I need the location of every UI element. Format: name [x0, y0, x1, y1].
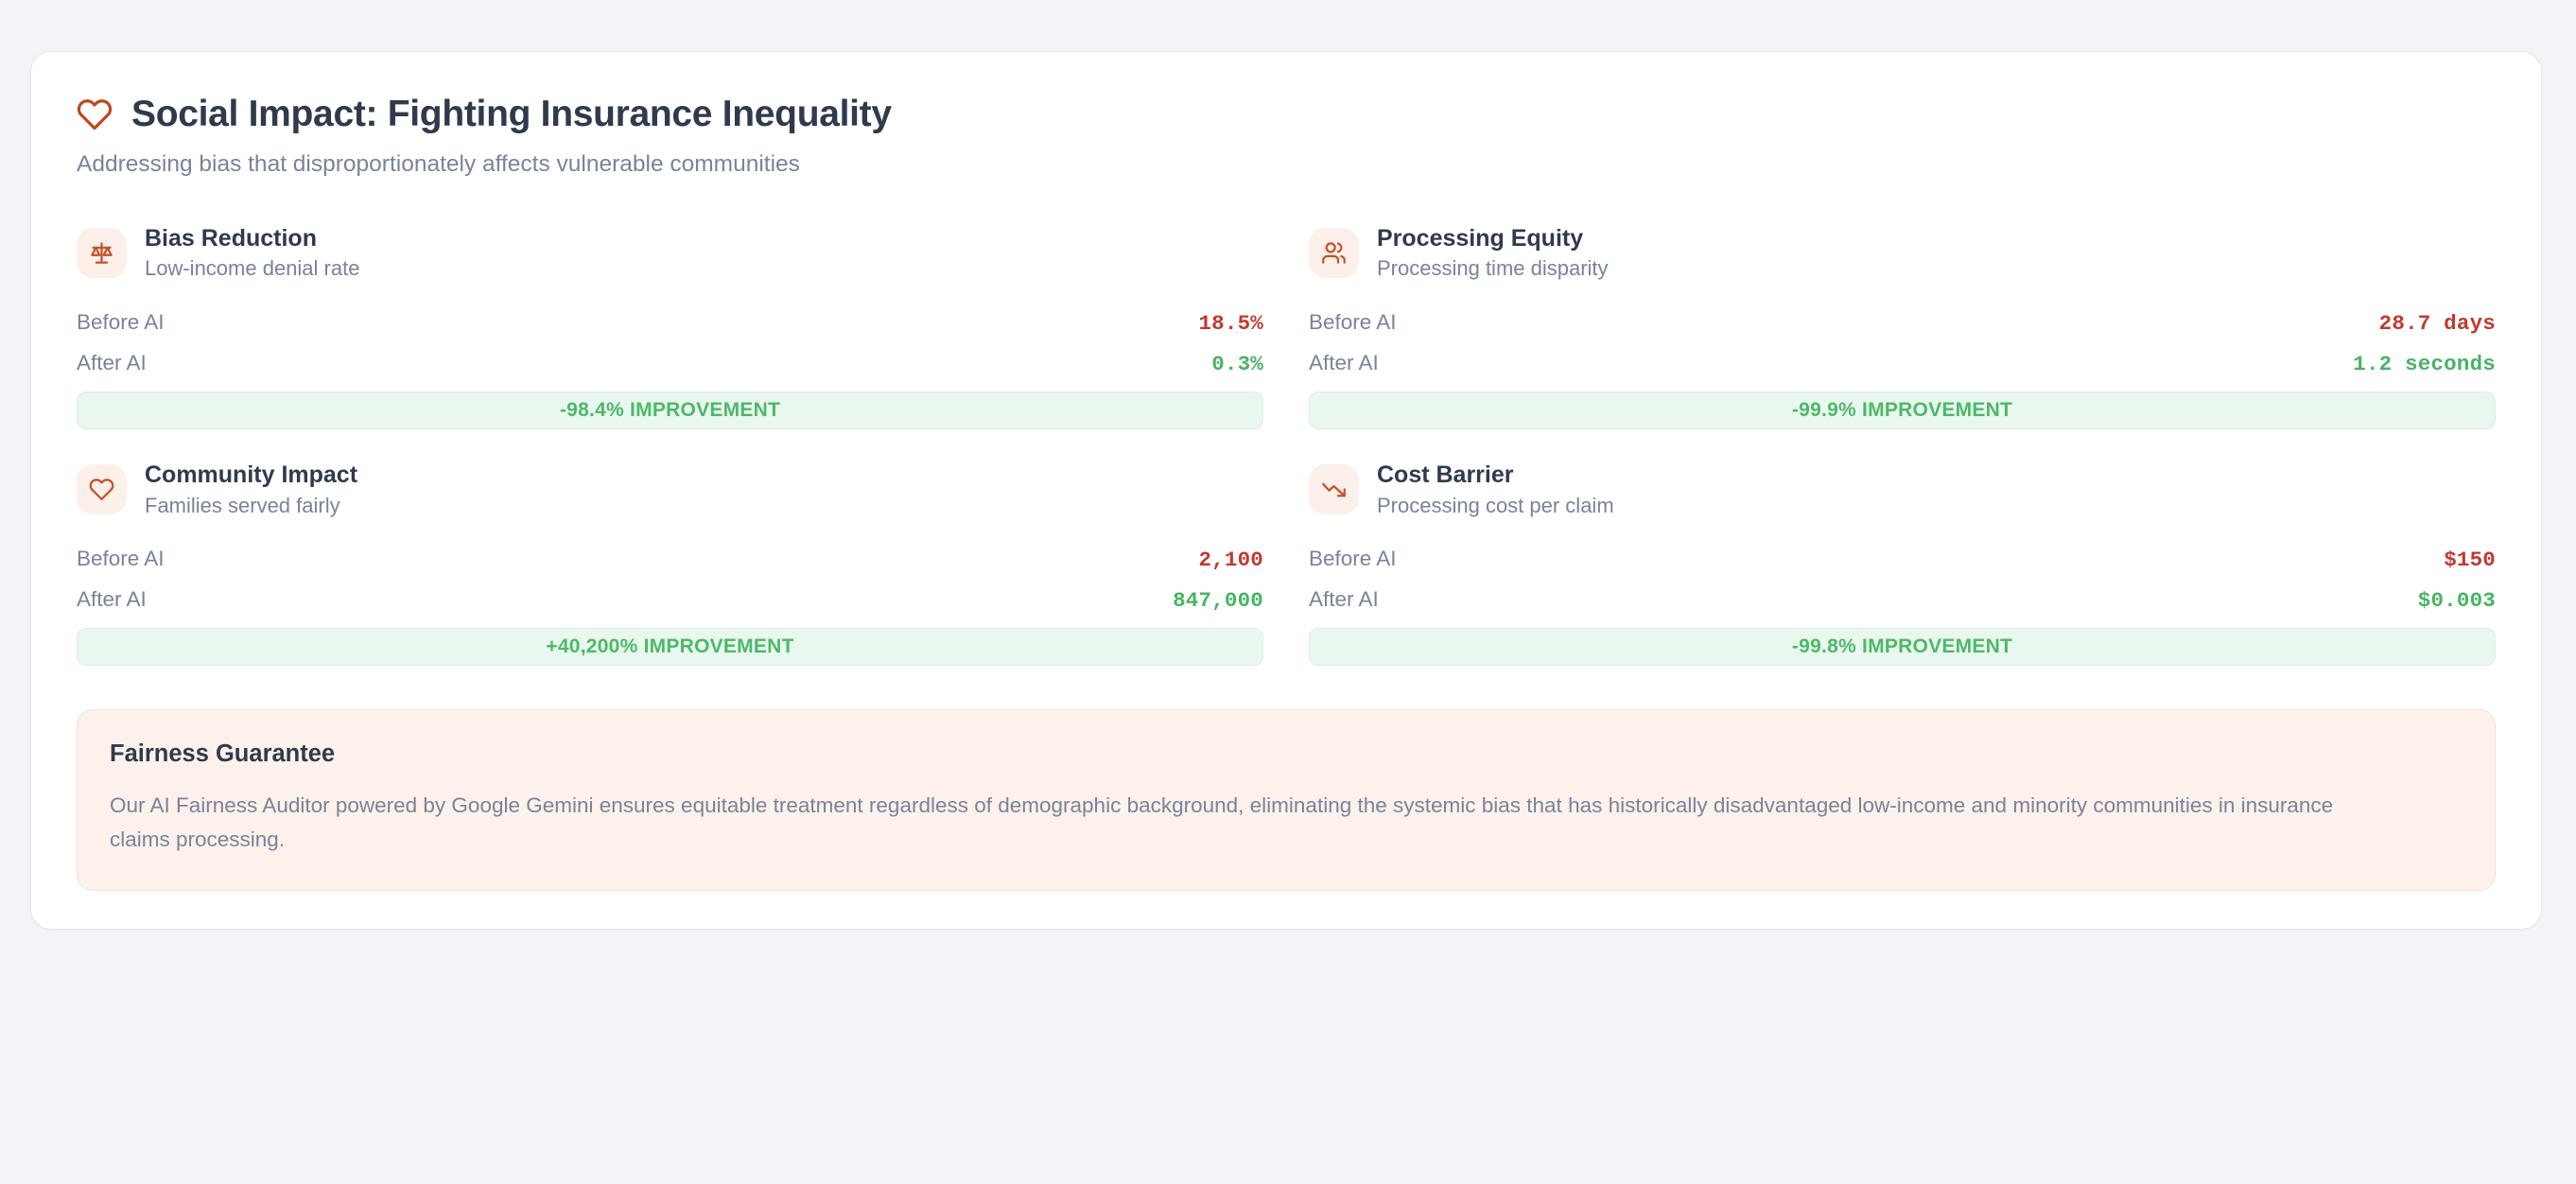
metric-row-after: After AI $0.003: [1309, 587, 2496, 613]
metric-sublabel: Low-income denial rate: [145, 256, 359, 281]
metric-icon-tile: [1309, 464, 1359, 514]
before-value: 2,100: [1198, 548, 1263, 572]
metric-titles: Community Impact Families served fairly: [145, 461, 357, 518]
after-label: After AI: [77, 351, 147, 375]
metric-header: Cost Barrier Processing cost per claim: [1309, 461, 2496, 518]
metric-label: Processing Equity: [1377, 225, 1609, 252]
metric-card-processing-equity: Processing Equity Processing time dispar…: [1309, 212, 2496, 448]
metric-row-after: After AI 0.3%: [77, 351, 1263, 376]
metric-row-before: Before AI $150: [1309, 547, 2496, 572]
metric-header: Bias Reduction Low-income denial rate: [77, 225, 1263, 282]
metric-icon-tile: [77, 464, 127, 514]
metric-sublabel: Families served fairly: [145, 494, 357, 518]
metric-icon-tile: [77, 228, 127, 278]
heart-icon: [89, 477, 114, 502]
metric-card-bias-reduction: Bias Reduction Low-income denial rate Be…: [77, 212, 1263, 448]
after-label: After AI: [1309, 351, 1379, 375]
improvement-badge: -99.8% IMPROVEMENT: [1309, 628, 2496, 666]
card-header: Social Impact: Fighting Insurance Inequa…: [77, 94, 2496, 180]
page-root: Social Impact: Fighting Insurance Inequa…: [0, 0, 2576, 1184]
after-label: After AI: [1309, 587, 1379, 612]
scales-balance-icon: [89, 240, 114, 266]
metrics-grid: Bias Reduction Low-income denial rate Be…: [77, 212, 2496, 685]
before-label: Before AI: [1309, 310, 1397, 335]
before-value: 18.5%: [1198, 311, 1263, 336]
fairness-guarantee-panel: Fairness Guarantee Our AI Fairness Audit…: [77, 709, 2496, 891]
metric-titles: Cost Barrier Processing cost per claim: [1377, 461, 1614, 518]
improvement-badge: -98.4% IMPROVEMENT: [77, 392, 1263, 429]
before-value: $150: [2444, 548, 2496, 572]
title-row: Social Impact: Fighting Insurance Inequa…: [77, 94, 2496, 136]
metric-row-after: After AI 1.2 seconds: [1309, 351, 2496, 376]
metric-sublabel: Processing time disparity: [1377, 256, 1609, 281]
heart-icon: [77, 96, 113, 132]
users-icon: [1321, 240, 1347, 266]
before-label: Before AI: [77, 547, 165, 571]
fairness-guarantee-title: Fairness Guarantee: [110, 740, 2463, 768]
metric-row-before: Before AI 28.7 days: [1309, 310, 2496, 336]
metric-header: Community Impact Families served fairly: [77, 461, 1263, 518]
page-subtitle: Addressing bias that disproportionately …: [77, 149, 2496, 180]
metric-row-before: Before AI 18.5%: [77, 310, 1263, 336]
metric-sublabel: Processing cost per claim: [1377, 494, 1614, 518]
after-value: $0.003: [2418, 588, 2496, 613]
after-value: 1.2 seconds: [2353, 352, 2496, 376]
after-value: 0.3%: [1211, 352, 1263, 376]
metric-label: Bias Reduction: [145, 225, 359, 252]
trending-down-icon: [1321, 477, 1347, 502]
metric-titles: Bias Reduction Low-income denial rate: [145, 225, 359, 282]
metric-icon-tile: [1309, 228, 1359, 278]
metric-label: Cost Barrier: [1377, 461, 1614, 489]
page-title: Social Impact: Fighting Insurance Inequa…: [131, 94, 892, 136]
before-value: 28.7 days: [2379, 311, 2496, 336]
before-label: Before AI: [1309, 547, 1397, 571]
fairness-guarantee-body: Our AI Fairness Auditor powered by Googl…: [110, 789, 2398, 858]
metric-card-community-impact: Community Impact Families served fairly …: [77, 448, 1263, 685]
metric-row-before: Before AI 2,100: [77, 547, 1263, 572]
improvement-badge: -99.9% IMPROVEMENT: [1309, 392, 2496, 429]
social-impact-card: Social Impact: Fighting Insurance Inequa…: [30, 51, 2542, 930]
metric-label: Community Impact: [145, 461, 357, 489]
before-label: Before AI: [77, 310, 165, 335]
metric-header: Processing Equity Processing time dispar…: [1309, 225, 2496, 282]
improvement-badge: +40,200% IMPROVEMENT: [77, 628, 1263, 666]
metric-titles: Processing Equity Processing time dispar…: [1377, 225, 1609, 282]
metric-row-after: After AI 847,000: [77, 587, 1263, 613]
metric-card-cost-barrier: Cost Barrier Processing cost per claim B…: [1309, 448, 2496, 685]
after-value: 847,000: [1173, 588, 1263, 613]
after-label: After AI: [77, 587, 147, 612]
